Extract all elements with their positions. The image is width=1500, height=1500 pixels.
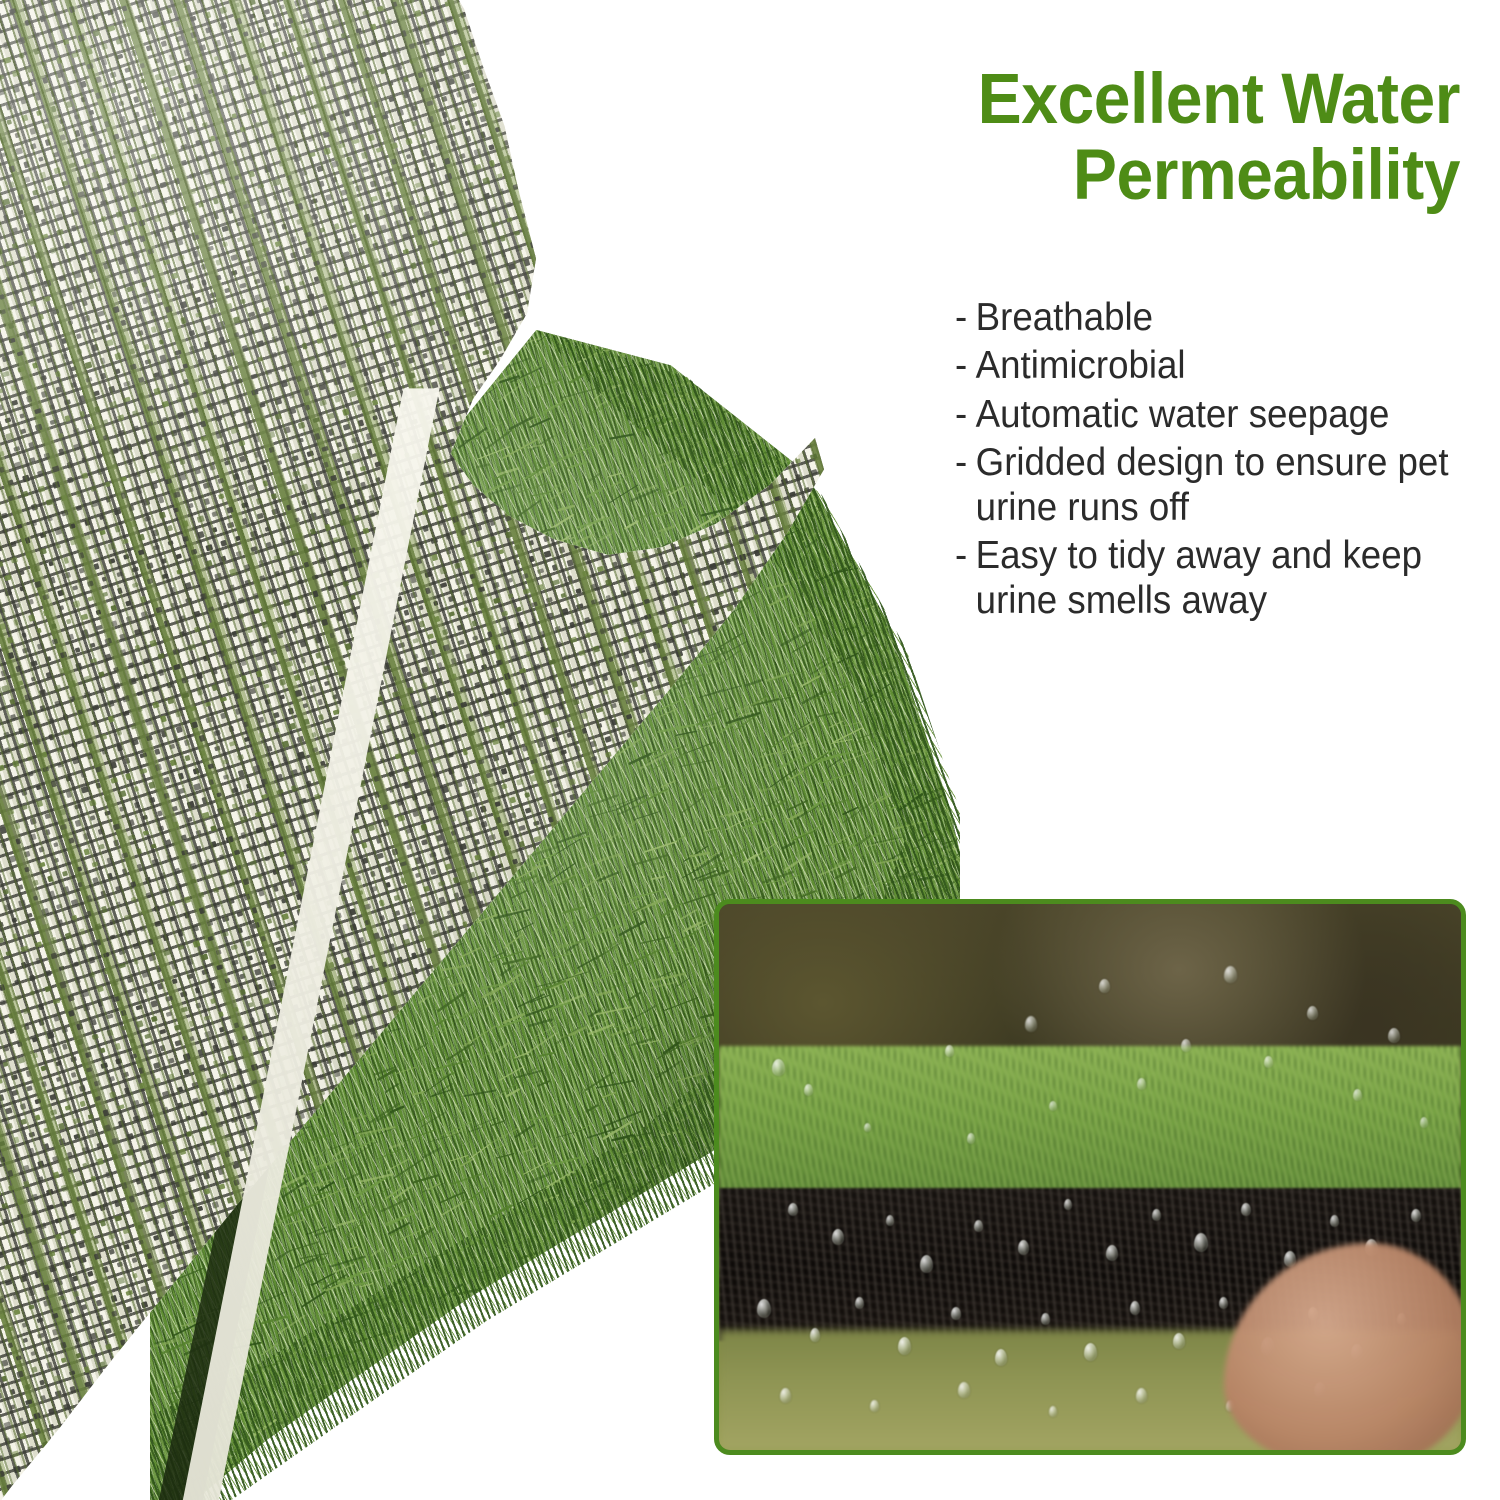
list-item-label: Breathable: [976, 296, 1454, 340]
infographic-canvas: Excellent Water Permeability - Breathabl…: [0, 0, 1500, 1500]
water-droplet: [1049, 1101, 1057, 1111]
water-droplet: [1219, 1297, 1228, 1309]
bullet-dash-icon: -: [955, 344, 976, 388]
water-droplet: [1099, 979, 1110, 993]
water-droplet: [886, 1215, 894, 1226]
water-droplet: [1194, 1233, 1208, 1252]
inset-photo-water-drainage: [714, 899, 1466, 1455]
list-item-label: Automatic water seepage: [976, 393, 1454, 437]
water-droplet: [1353, 1089, 1362, 1101]
list-item: - Gridded design to ensure pet urine run…: [955, 441, 1453, 530]
list-item-label: Gridded design to ensure pet urine runs …: [976, 441, 1454, 530]
bullet-dash-icon: -: [955, 534, 976, 578]
bullet-dash-icon: -: [955, 441, 976, 485]
list-item: - Antimicrobial: [955, 344, 1453, 388]
list-item: - Easy to tidy away and keep urine smell…: [955, 534, 1453, 623]
list-item: - Breathable: [955, 296, 1453, 340]
list-item-label: Antimicrobial: [976, 344, 1454, 388]
water-droplet: [1084, 1343, 1097, 1361]
water-droplet: [920, 1255, 933, 1273]
water-droplet: [1025, 1016, 1037, 1032]
water-droplet: [1064, 1199, 1072, 1210]
bullet-dash-icon: -: [955, 393, 976, 437]
water-droplet: [958, 1382, 970, 1398]
list-item: - Automatic water seepage: [955, 393, 1453, 437]
water-droplet: [1241, 1203, 1251, 1216]
water-droplet: [1173, 1333, 1185, 1349]
water-droplet: [780, 1388, 791, 1403]
water-droplet: [1041, 1313, 1050, 1325]
page-title: Excellent Water Permeability: [921, 62, 1460, 214]
water-droplet: [1049, 1406, 1057, 1417]
feature-list: - Breathable - Antimicrobial - Automatic…: [955, 296, 1453, 627]
water-droplet: [995, 1349, 1007, 1366]
water-droplet: [945, 1045, 954, 1057]
water-droplet: [1307, 1006, 1318, 1020]
water-droplet: [864, 1123, 871, 1132]
water-droplet: [772, 1059, 785, 1076]
inset-turf-layer: [719, 1046, 1461, 1199]
water-droplet: [832, 1229, 844, 1245]
list-item-label: Easy to tidy away and keep urine smells …: [976, 534, 1454, 623]
water-droplet: [1130, 1301, 1140, 1315]
water-droplet: [1420, 1117, 1428, 1128]
water-droplet: [804, 1084, 813, 1096]
water-droplet: [974, 1220, 983, 1232]
water-droplet: [1018, 1240, 1029, 1255]
water-droplet: [757, 1299, 771, 1318]
bullet-dash-icon: -: [955, 296, 976, 340]
water-droplet: [1264, 1056, 1273, 1068]
water-droplet: [898, 1337, 911, 1355]
water-droplet: [788, 1203, 798, 1216]
